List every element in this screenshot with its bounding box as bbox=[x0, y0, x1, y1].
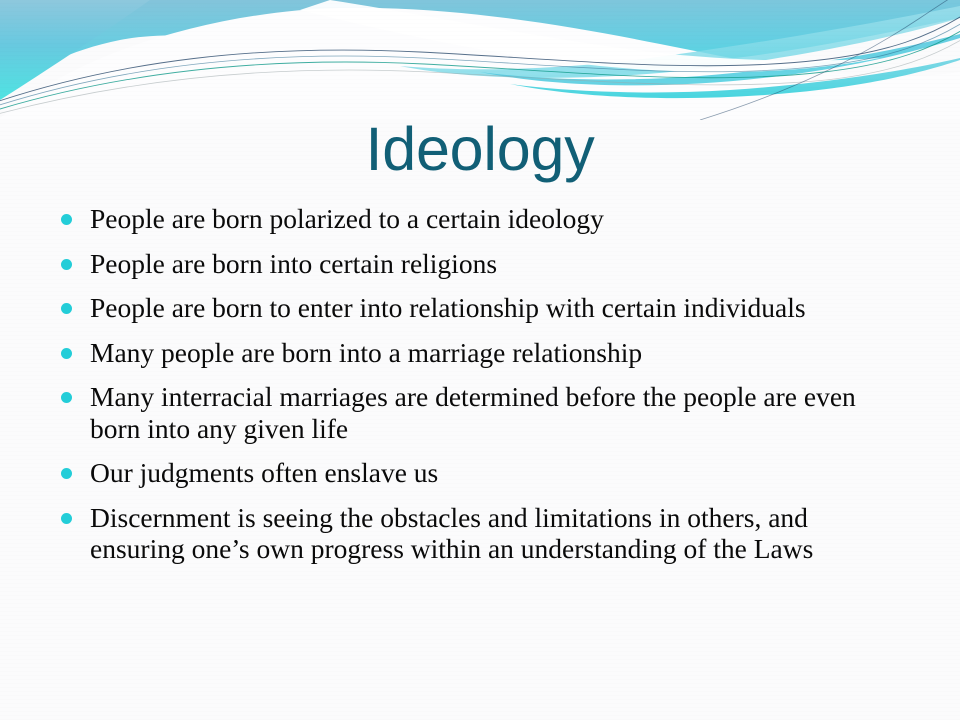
list-item-text: People are born to enter into relationsh… bbox=[90, 292, 908, 324]
slide-title: Ideology bbox=[0, 116, 960, 182]
filled-circle-bullet-icon bbox=[61, 303, 72, 314]
filled-circle-bullet-icon bbox=[61, 392, 72, 403]
list-item-text: People are born polarized to a certain i… bbox=[90, 203, 908, 235]
list-item: Our judgments often enslave us bbox=[52, 457, 908, 489]
list-item-text: Many people are born into a marriage rel… bbox=[90, 337, 908, 369]
list-item: Many people are born into a marriage rel… bbox=[52, 337, 908, 369]
list-item-text: Discernment is seeing the obstacles and … bbox=[90, 502, 908, 565]
filled-circle-bullet-icon bbox=[61, 259, 72, 270]
list-item: People are born polarized to a certain i… bbox=[52, 203, 908, 235]
list-item: People are born to enter into relationsh… bbox=[52, 292, 908, 324]
slide-canvas: Ideology People are born polarized to a … bbox=[0, 0, 960, 720]
list-item-text: People are born into certain religions bbox=[90, 248, 908, 280]
list-item-text: Our judgments often enslave us bbox=[90, 457, 908, 489]
list-item: Many interracial marriages are determine… bbox=[52, 381, 908, 444]
list-item: Discernment is seeing the obstacles and … bbox=[52, 502, 908, 565]
bullet-list: People are born polarized to a certain i… bbox=[52, 203, 908, 565]
filled-circle-bullet-icon bbox=[61, 468, 72, 479]
filled-circle-bullet-icon bbox=[61, 214, 72, 225]
filled-circle-bullet-icon bbox=[61, 513, 72, 524]
filled-circle-bullet-icon bbox=[61, 348, 72, 359]
list-item: People are born into certain religions bbox=[52, 248, 908, 280]
list-item-text: Many interracial marriages are determine… bbox=[90, 381, 908, 444]
